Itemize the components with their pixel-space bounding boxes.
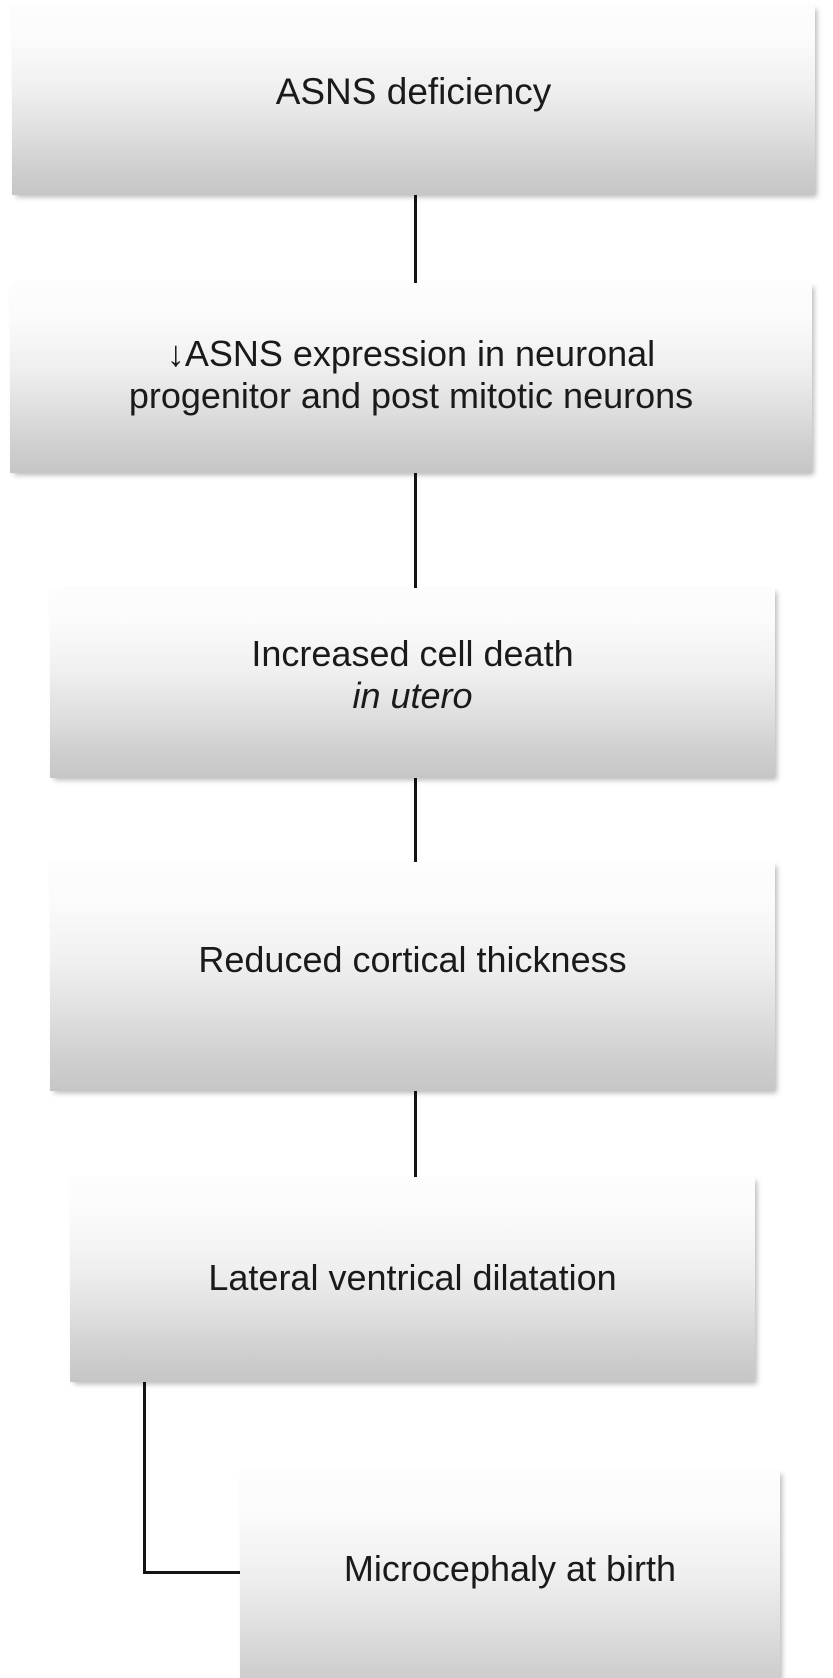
flow-node-line: Increased cell death bbox=[64, 633, 761, 675]
flow-node-line: progenitor and post mitotic neurons bbox=[24, 375, 798, 417]
flow-node-label: ASNS deficiency bbox=[26, 70, 801, 114]
flow-node-label: Lateral ventrical dilatation bbox=[84, 1257, 741, 1299]
flow-node-label: Increased cell death in utero bbox=[64, 633, 761, 718]
flow-node-label: Reduced cortical thickness bbox=[64, 939, 761, 981]
connector-asns-deficiency-to-asns-expression bbox=[414, 190, 417, 288]
flow-node-line: Lateral ventrical dilatation bbox=[84, 1257, 741, 1299]
flow-node-microcephaly-at-birth[interactable]: Microcephaly at birth bbox=[240, 1470, 780, 1678]
connector-reduced-cortical-thickness-to-lateral-ventrical-dilatation bbox=[414, 1086, 417, 1182]
connector-lateral-ventrical-to-microcephaly-horizontal bbox=[143, 1571, 243, 1574]
flow-node-line: Microcephaly at birth bbox=[254, 1548, 766, 1590]
flow-node-line: ↓ASNS expression in neuronal bbox=[24, 333, 798, 375]
flow-node-asns-expression[interactable]: ↓ASNS expression in neuronal progenitor … bbox=[10, 283, 812, 473]
flowchart-canvas: ASNS deficiency ↓ASNS expression in neur… bbox=[0, 0, 833, 1678]
flow-node-line-italic: in utero bbox=[64, 675, 761, 717]
flow-node-line: Reduced cortical thickness bbox=[64, 939, 761, 981]
flow-node-lateral-ventrical-dilatation[interactable]: Lateral ventrical dilatation bbox=[70, 1177, 755, 1382]
flow-node-asns-deficiency[interactable]: ASNS deficiency bbox=[12, 5, 815, 195]
flow-node-reduced-cortical-thickness[interactable]: Reduced cortical thickness bbox=[50, 862, 775, 1091]
flow-node-label: ↓ASNS expression in neuronal progenitor … bbox=[24, 333, 798, 418]
flow-node-increased-cell-death[interactable]: Increased cell death in utero bbox=[50, 588, 775, 778]
connector-lateral-ventrical-to-microcephaly-vertical bbox=[143, 1378, 146, 1574]
flow-node-line: ASNS deficiency bbox=[26, 70, 801, 114]
connector-increased-cell-death-to-reduced-cortical-thickness bbox=[414, 773, 417, 867]
flow-node-label: Microcephaly at birth bbox=[254, 1548, 766, 1590]
connector-asns-expression-to-increased-cell-death bbox=[414, 468, 417, 593]
